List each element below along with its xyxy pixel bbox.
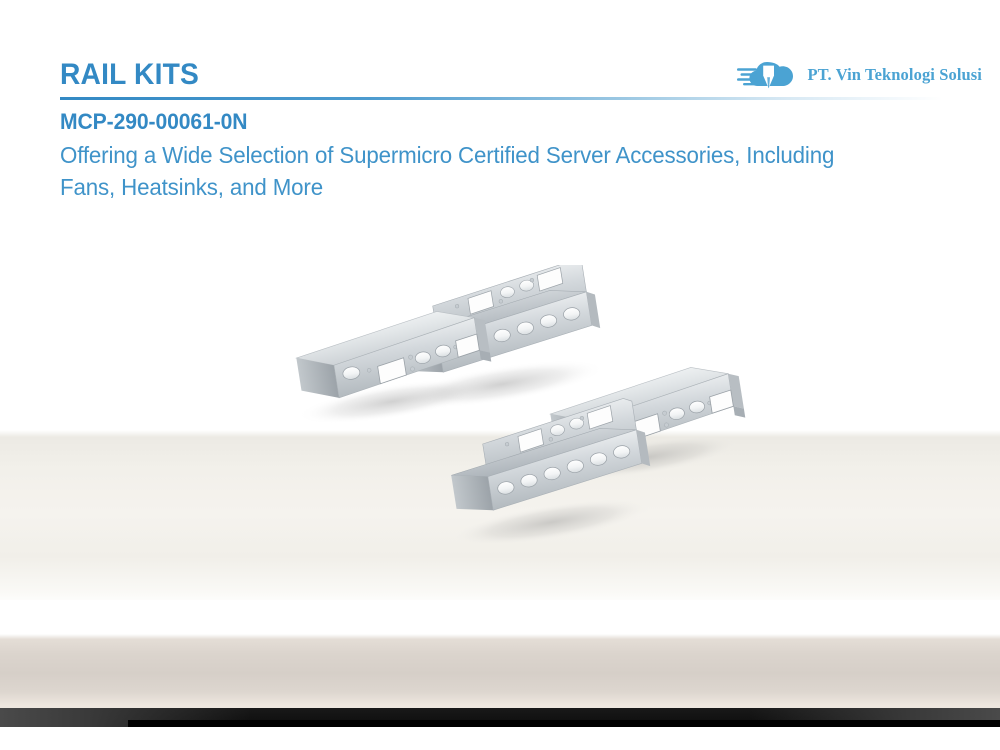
product-image [270, 265, 770, 605]
background-band-beige [0, 634, 1000, 710]
slide-header: RAIL KITS MCP-290-00061-0N Offering a Wi… [0, 0, 1000, 215]
cloud-speed-v-icon [737, 58, 801, 92]
company-name: PT. Vin Teknologi Solusi [807, 65, 982, 85]
background-band-dark [0, 708, 1000, 727]
title-divider-rule [60, 97, 970, 100]
part-number: MCP-290-00061-0N [60, 109, 247, 135]
background-band-white-middle [0, 600, 1000, 640]
page-title: RAIL KITS [60, 60, 737, 90]
title-block: RAIL KITS [60, 60, 780, 90]
brand-logo: PT. Vin Teknologi Solusi [737, 58, 982, 92]
background-strip-black [128, 720, 1000, 727]
product-description: Offering a Wide Selection of Supermicro … [60, 140, 836, 203]
background-band-white-bottom [0, 727, 1000, 750]
rail-bracket-left [285, 304, 498, 433]
product-slide: RAIL KITS MCP-290-00061-0N Offering a Wi… [0, 0, 1000, 750]
